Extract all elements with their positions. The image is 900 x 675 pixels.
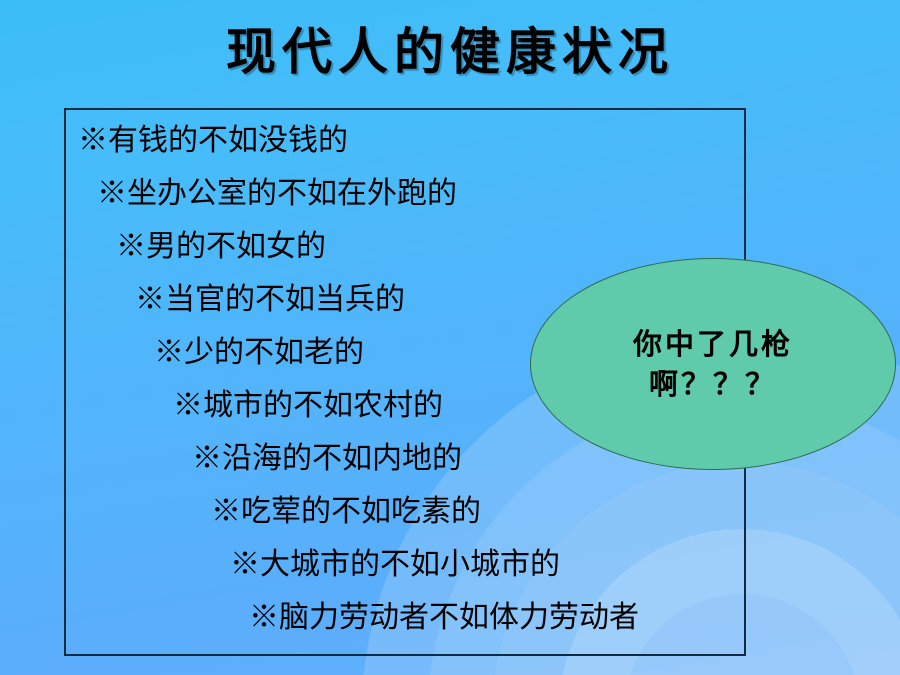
list-item: ※大城市的不如小城市的 (64, 538, 746, 591)
list-item: ※有钱的不如没钱的 (64, 114, 746, 167)
slide-title: 现代人的健康状况 (0, 22, 900, 82)
list-item: ※坐办公室的不如在外跑的 (64, 167, 746, 220)
callout-ellipse: 你中了几枪啊？？？ (530, 258, 896, 470)
callout-text: 你中了几枪啊？？？ (578, 324, 848, 404)
list-item: ※脑力劳动者不如体力劳动者 (64, 591, 746, 644)
list-item: ※吃荤的不如吃素的 (64, 485, 746, 538)
presentation-slide: 现代人的健康状况 ※有钱的不如没钱的※坐办公室的不如在外跑的※男的不如女的※当官… (0, 0, 900, 675)
